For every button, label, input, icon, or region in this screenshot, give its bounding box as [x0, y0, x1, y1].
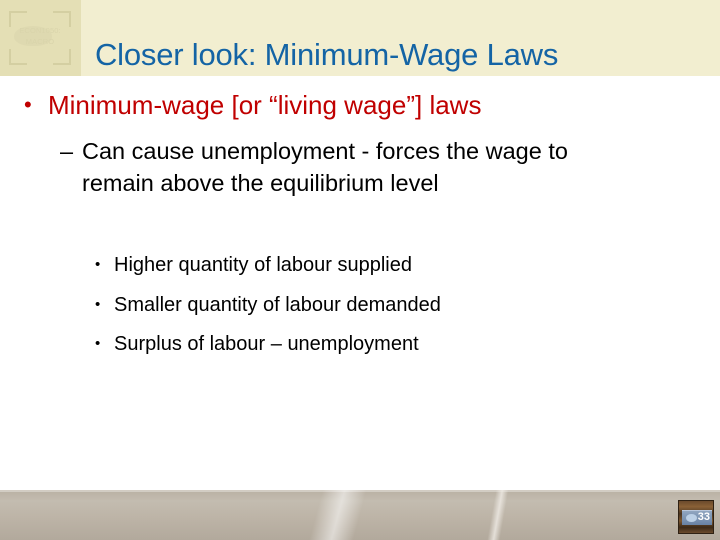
bracket-bottom-right-icon — [53, 49, 71, 65]
bullet-level3-item: • Smaller quantity of labour demanded — [95, 292, 655, 318]
plate-dot-icon — [686, 514, 697, 522]
bullet-level3-text: Surplus of labour – unemployment — [114, 331, 655, 357]
bullet-level3-item: • Surplus of labour – unemployment — [95, 331, 655, 357]
bullet-dot-icon: • — [24, 88, 48, 122]
bullet-level1-text: Minimum-wage [or “living wage”] laws — [48, 88, 704, 122]
slide-body: • Minimum-wage [or “living wage”] laws –… — [0, 76, 720, 490]
bullet-level3-group: • Higher quantity of labour supplied • S… — [95, 252, 655, 371]
page-number: 33 — [698, 510, 710, 525]
bullet-dot-icon: • — [95, 252, 114, 278]
course-logo-text: ECON1050: MACRO — [9, 25, 71, 47]
slide-header-band: ECON1050: MACRO Closer look: Minimum-Wag… — [0, 0, 720, 76]
bullet-dash-icon: – — [60, 136, 82, 168]
bullet-level3-text: Smaller quantity of labour demanded — [114, 292, 655, 318]
bullet-dot-icon: • — [95, 331, 114, 357]
bullet-level3-text: Higher quantity of labour supplied — [114, 252, 655, 278]
slide-title: Closer look: Minimum-Wage Laws — [95, 35, 710, 75]
bullet-level2-text: Can cause unemployment - forces the wage… — [82, 136, 594, 199]
page-number-plate: 33 — [682, 510, 712, 525]
slide: ECON1050: MACRO Closer look: Minimum-Wag… — [0, 0, 720, 540]
bullet-dot-icon: • — [95, 292, 114, 318]
slide-footer-band — [0, 490, 720, 540]
bullet-level1: • Minimum-wage [or “living wage”] laws — [24, 88, 704, 122]
bullet-level3-item: • Higher quantity of labour supplied — [95, 252, 655, 278]
page-number-thumbnail: 33 — [678, 500, 714, 534]
footer-diagonal-highlight — [400, 490, 600, 540]
bullet-level2: – Can cause unemployment - forces the wa… — [60, 136, 660, 199]
bracket-bottom-left-icon — [9, 49, 27, 65]
logo-bracket-frame: ECON1050: MACRO — [9, 11, 71, 65]
footer-seam-line — [0, 490, 720, 492]
course-logo: ECON1050: MACRO — [0, 0, 81, 76]
